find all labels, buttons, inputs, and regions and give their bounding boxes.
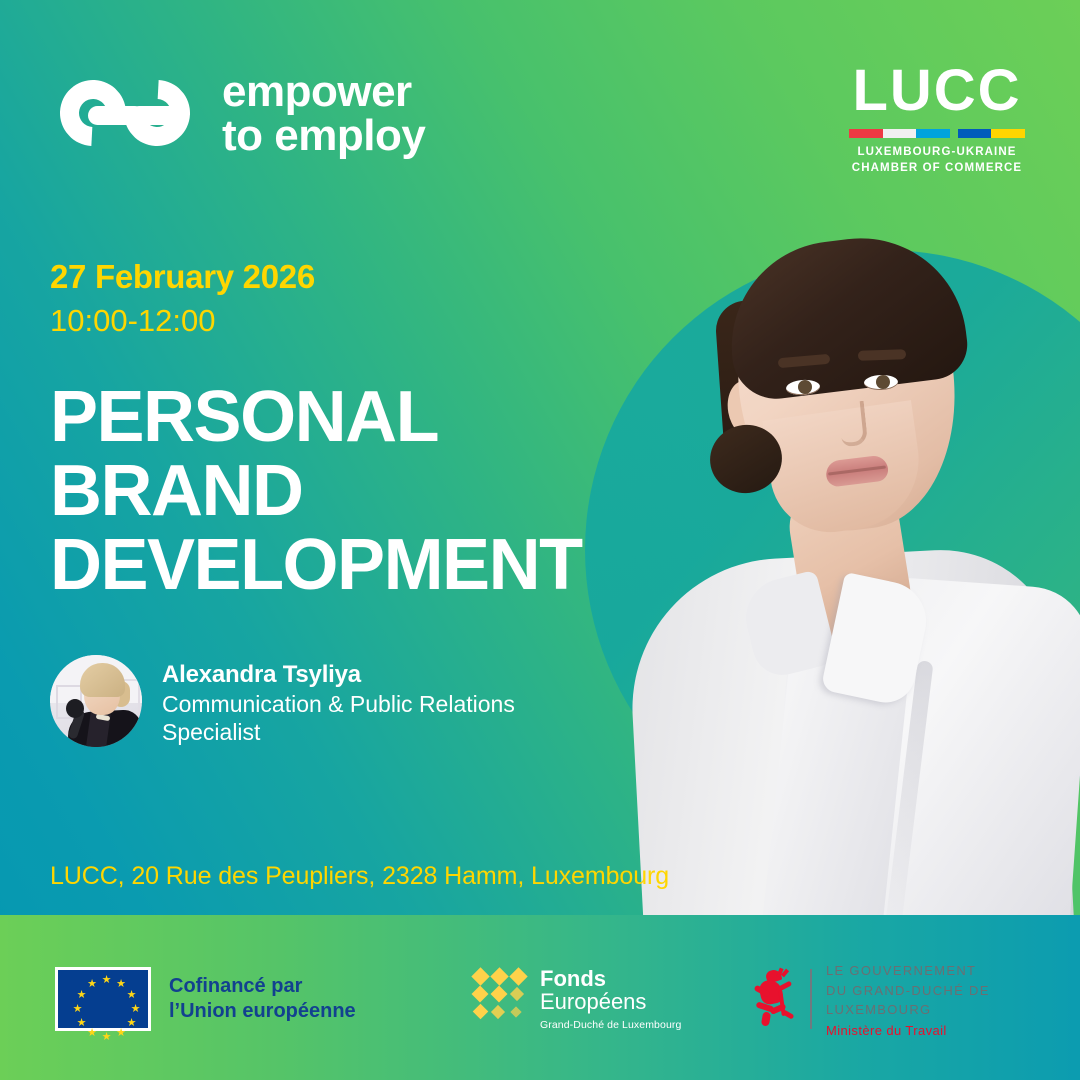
diamond [491,1005,505,1019]
photo-eyebrow-right [858,349,906,361]
eu-text-line-2: l’Union européenne [169,999,356,1024]
eu-star: ★ [101,975,112,986]
speaker-role: Communication & Public Relations Special… [162,691,592,746]
gov-line-3: Ministère du Travail [826,1023,1080,1038]
fonds-text: Fonds Européens Grand-Duché de Luxembour… [540,967,681,1031]
presenter-photo [600,180,1080,920]
speaker-text: Alexandra Tsyliya Communication & Public… [162,655,592,746]
eu-star: ★ [76,1018,87,1029]
gov-divider [810,969,812,1029]
event-date: 27 February 2026 [50,258,315,296]
diamond [509,967,527,985]
photo-hair [720,226,972,404]
diamond [510,987,524,1001]
diamond [510,1006,521,1017]
gov-line-2: DU GRAND-DUCHÉ DE LUXEMBOURG [826,981,1080,1020]
diamond [472,986,489,1003]
event-time: 10:00-12:00 [50,303,215,339]
lucc-logo[interactable]: LUCC LUXEMBOURG-UKRAINE CHAMBER OF COMME… [849,62,1025,177]
lucc-subtitle: LUXEMBOURG-UKRAINE CHAMBER OF COMMERCE [849,145,1025,177]
speaker-name: Alexandra Tsyliya [162,661,592,689]
gov-line-1: LE GOUVERNEMENT [826,961,1080,981]
fonds-line-1: Fonds [540,967,681,990]
eu-star: ★ [87,979,98,990]
flag-bar-lux-white [883,129,917,138]
photo-nose [838,401,868,447]
fonds-line-2: Européens [540,990,681,1014]
lucc-acronym: LUCC [849,62,1025,120]
luxembourg-government-logo: LE GOUVERNEMENT DU GRAND-DUCHÉ DE LUXEMB… [752,961,1080,1038]
e2e-logo-mark [58,66,198,161]
lion-leg-lower [761,1012,771,1027]
diamond [491,986,508,1003]
eu-funding-text: Cofinancé par l’Union européenne [169,974,356,1024]
brand-wordmark: empower to employ [222,70,425,156]
eu-star: ★ [101,1032,112,1043]
photo-iris-right [876,375,890,389]
brand-line-2: to employ [222,114,425,157]
photo-iris-left [798,380,812,394]
flag-bar-ukr-yellow [991,129,1025,138]
flag-bar-lux-blue [916,129,950,138]
lucc-flag-bars [849,129,1025,138]
event-title: PERSONAL BRAND DEVELOPMENT [50,380,650,602]
lucc-subtitle-line-1: LUXEMBOURG-UKRAINE [849,145,1025,161]
eu-star: ★ [130,1004,141,1015]
event-address: LUCC, 20 Rue des Peupliers, 2328 Hamm, L… [50,862,669,891]
eu-star: ★ [126,1018,137,1029]
lucc-subtitle-line-2: CHAMBER OF COMMERCE [849,161,1025,177]
logo-e-right-bar [130,106,184,125]
diamond [471,967,489,985]
eu-star: ★ [76,990,87,1001]
eu-star: ★ [72,1004,83,1015]
gov-text: LE GOUVERNEMENT DU GRAND-DUCHÉ DE LUXEMB… [826,961,1080,1038]
speaker-block: Alexandra Tsyliya Communication & Public… [50,655,592,747]
footer-sponsors: ★ ★ ★ ★ ★ ★ ★ ★ ★ ★ ★ ★ Cofinancé par l’… [0,915,1080,1080]
empower-to-employ-logo[interactable]: empower to employ [58,66,425,161]
diamond [490,967,508,985]
brand-line-1: empower [222,70,425,113]
event-poster: empower to employ LUCC LUXEMBOURG-UKRAIN… [0,0,1080,1080]
european-union-flag-icon: ★ ★ ★ ★ ★ ★ ★ ★ ★ ★ ★ ★ [55,967,151,1031]
fonds-diamonds-icon [474,970,526,1022]
flag-bar-gap [950,129,958,138]
flag-bar-lux-red [849,129,883,138]
fonds-europeens-logo: Fonds Européens Grand-Duché de Luxembour… [474,967,681,1031]
fonds-line-3: Grand-Duché de Luxembourg [540,1019,681,1031]
eu-star: ★ [126,990,137,1001]
diamond [473,1004,489,1020]
eu-text-line-1: Cofinancé par [169,974,356,999]
eu-funding-logo: ★ ★ ★ ★ ★ ★ ★ ★ ★ ★ ★ ★ Cofinancé par l’… [55,967,356,1031]
eu-star: ★ [87,1028,98,1039]
luxembourg-lion-icon [752,968,796,1030]
speaker-avatar [50,655,142,747]
eu-star: ★ [116,1028,127,1039]
flag-bar-ukr-blue [958,129,992,138]
microphone-icon [66,699,84,718]
lion-tail-tip [782,1010,795,1020]
eu-star: ★ [116,979,127,990]
